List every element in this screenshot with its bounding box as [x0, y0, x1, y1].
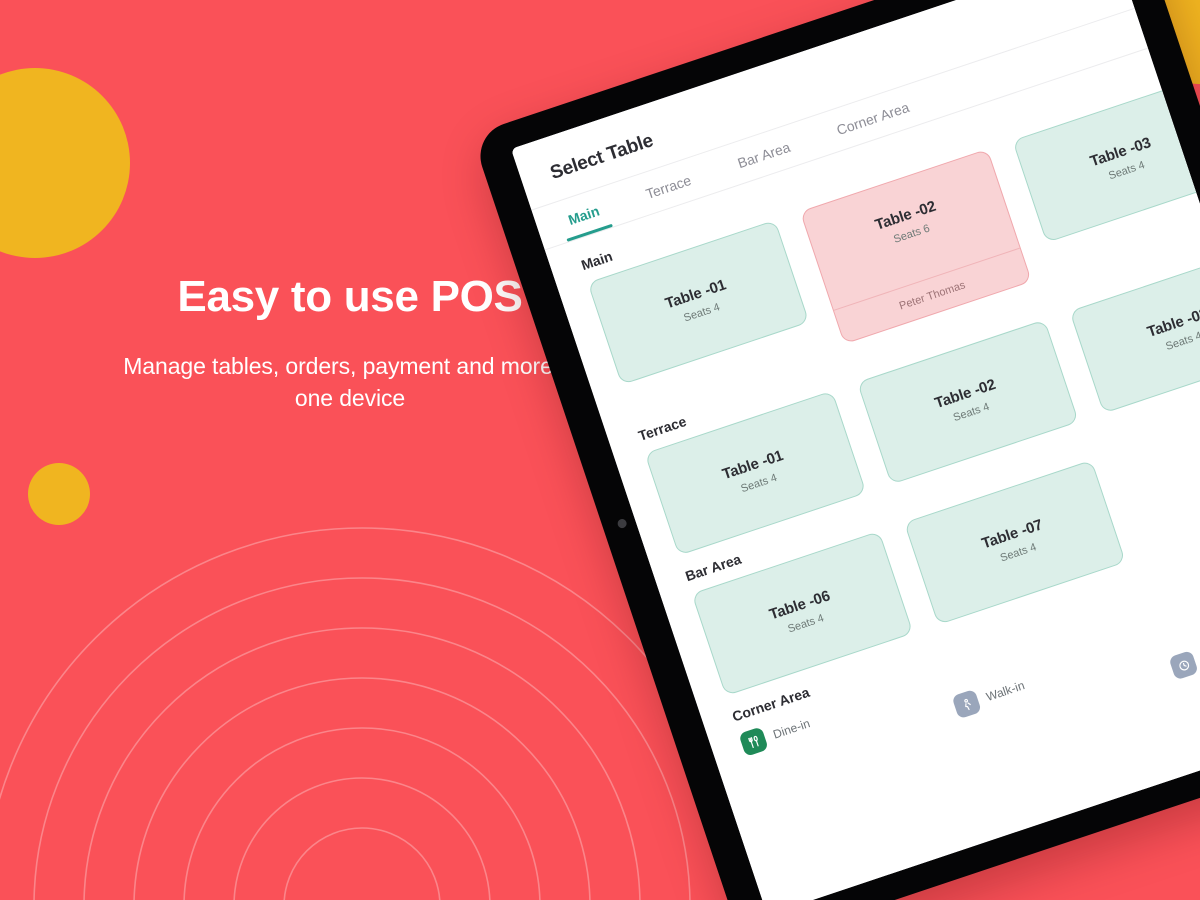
- walk-in-icon: [952, 689, 982, 719]
- page-subtitle: Manage tables, orders, payment and more …: [110, 351, 590, 414]
- active-orders-icon: [1168, 650, 1198, 680]
- tablet-device-mockup: Select Table Main Terrace Bar Area Corne…: [471, 0, 1200, 900]
- tablet-bezel: Select Table Main Terrace Bar Area Corne…: [471, 0, 1200, 900]
- order-type-label: Walk-in: [984, 678, 1026, 704]
- fork-knife-icon: [738, 726, 768, 756]
- decorative-circle-large: [0, 68, 130, 258]
- pos-app: Select Table Main Terrace Bar Area Corne…: [511, 0, 1200, 900]
- tablet-screen: Select Table Main Terrace Bar Area Corne…: [511, 0, 1200, 900]
- order-type-label: Dine-in: [771, 716, 811, 741]
- camera-icon: [616, 518, 627, 529]
- promo-banner: Easy to use POS Manage tables, orders, p…: [0, 0, 1200, 900]
- decorative-circle-small: [28, 463, 90, 525]
